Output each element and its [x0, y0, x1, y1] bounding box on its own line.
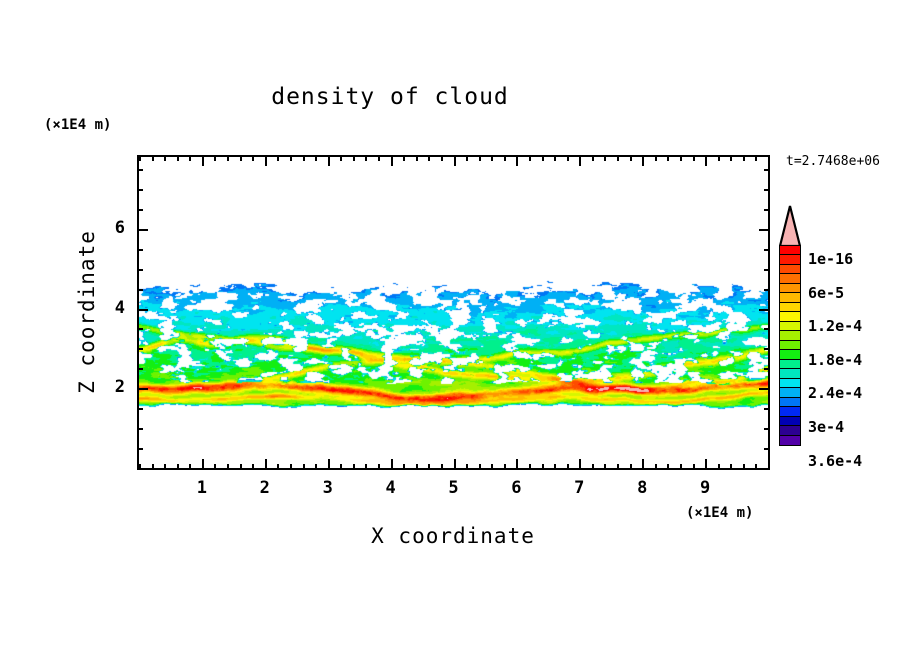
- tick-mark: [630, 155, 632, 161]
- x-tick-label: 5: [434, 478, 474, 498]
- x-tick-label: 4: [371, 478, 411, 498]
- x-tick-label: 8: [622, 478, 662, 498]
- tick-mark: [340, 155, 342, 161]
- plot-area: [137, 155, 770, 470]
- tick-mark: [290, 464, 292, 470]
- tick-mark: [642, 459, 644, 470]
- tick-mark: [759, 309, 770, 311]
- tick-mark: [227, 155, 229, 161]
- tick-mark: [441, 464, 443, 470]
- tick-mark: [680, 464, 682, 470]
- x-tick-label: 9: [685, 478, 725, 498]
- tick-mark: [516, 459, 518, 470]
- tick-mark: [214, 464, 216, 470]
- tick-mark: [164, 155, 166, 161]
- colorbar-tick-label: 6e-5: [808, 284, 844, 302]
- x-axis-unit-label: (×1E4 m): [686, 505, 753, 521]
- tick-mark: [152, 464, 154, 470]
- tick-mark: [137, 209, 143, 211]
- tick-mark: [365, 155, 367, 161]
- tick-mark: [764, 249, 770, 251]
- tick-mark: [277, 155, 279, 161]
- tick-mark: [353, 155, 355, 161]
- tick-mark: [730, 464, 732, 470]
- x-tick-label: 7: [559, 478, 599, 498]
- contour-plot-figure: density of cloud (×1E4 m) (×1E4 m) t=2.7…: [0, 0, 904, 654]
- tick-mark: [416, 155, 418, 161]
- tick-mark: [454, 155, 456, 166]
- tick-mark: [277, 464, 279, 470]
- tick-mark: [137, 428, 143, 430]
- tick-mark: [567, 464, 569, 470]
- tick-mark: [202, 459, 204, 470]
- x-tick-label: 1: [182, 478, 222, 498]
- tick-mark: [441, 155, 443, 161]
- colorbar-tick-label: 2.4e-4: [808, 384, 862, 402]
- tick-mark: [529, 464, 531, 470]
- tick-mark: [743, 155, 745, 161]
- tick-mark: [693, 155, 695, 161]
- tick-mark: [137, 269, 143, 271]
- colorbar-tick-label: 1e-16: [808, 250, 853, 268]
- tick-mark: [764, 189, 770, 191]
- tick-mark: [655, 155, 657, 161]
- tick-mark: [479, 464, 481, 470]
- tick-mark: [491, 155, 493, 161]
- tick-mark: [403, 155, 405, 161]
- tick-mark: [403, 464, 405, 470]
- colorbar-overflow-arrow: [779, 205, 801, 247]
- tick-mark: [755, 155, 757, 161]
- tick-mark: [416, 464, 418, 470]
- tick-mark: [764, 448, 770, 450]
- time-annotation: t=2.7468e+06: [786, 154, 880, 169]
- y-tick-label: 4: [95, 298, 125, 318]
- tick-mark: [529, 155, 531, 161]
- tick-mark: [353, 464, 355, 470]
- tick-mark: [177, 464, 179, 470]
- tick-mark: [630, 464, 632, 470]
- tick-mark: [365, 464, 367, 470]
- tick-mark: [504, 464, 506, 470]
- colorbar-tick-label: 1.8e-4: [808, 351, 862, 369]
- tick-mark: [764, 368, 770, 370]
- tick-mark: [189, 464, 191, 470]
- tick-mark: [764, 408, 770, 410]
- tick-mark: [592, 155, 594, 161]
- colorbar-band: [779, 435, 801, 446]
- tick-mark: [764, 328, 770, 330]
- tick-mark: [705, 155, 707, 166]
- tick-mark: [137, 408, 143, 410]
- tick-mark: [328, 459, 330, 470]
- tick-mark: [177, 155, 179, 161]
- x-tick-label: 6: [496, 478, 536, 498]
- y-axis-title: Z coordinate: [75, 212, 99, 412]
- tick-mark: [479, 155, 481, 161]
- tick-mark: [137, 249, 143, 251]
- x-tick-label: 3: [308, 478, 348, 498]
- y-axis-unit-label: (×1E4 m): [44, 117, 111, 133]
- tick-mark: [693, 464, 695, 470]
- tick-mark: [604, 155, 606, 161]
- tick-mark: [764, 169, 770, 171]
- tick-mark: [454, 459, 456, 470]
- colorbar-tick-label: 3.6e-4: [808, 452, 862, 470]
- tick-mark: [759, 229, 770, 231]
- colorbar: [779, 246, 801, 446]
- tick-mark: [516, 155, 518, 166]
- tick-mark: [227, 464, 229, 470]
- tick-mark: [240, 464, 242, 470]
- tick-mark: [378, 464, 380, 470]
- tick-mark: [764, 209, 770, 211]
- tick-mark: [759, 388, 770, 390]
- tick-mark: [491, 464, 493, 470]
- tick-mark: [718, 464, 720, 470]
- tick-mark: [764, 289, 770, 291]
- tick-mark: [252, 464, 254, 470]
- tick-mark: [504, 155, 506, 161]
- tick-mark: [315, 155, 317, 161]
- tick-mark: [764, 468, 770, 470]
- tick-mark: [265, 459, 267, 470]
- tick-mark: [466, 464, 468, 470]
- tick-mark: [667, 464, 669, 470]
- tick-mark: [730, 155, 732, 161]
- tick-mark: [579, 459, 581, 470]
- tick-mark: [202, 155, 204, 166]
- tick-mark: [542, 155, 544, 161]
- tick-mark: [252, 155, 254, 161]
- tick-mark: [655, 464, 657, 470]
- tick-mark: [137, 388, 148, 390]
- tick-mark: [642, 155, 644, 166]
- tick-mark: [139, 155, 141, 161]
- tick-mark: [755, 464, 757, 470]
- tick-mark: [303, 464, 305, 470]
- tick-mark: [137, 348, 143, 350]
- tick-mark: [303, 155, 305, 161]
- tick-mark: [743, 464, 745, 470]
- tick-mark: [265, 155, 267, 166]
- tick-mark: [152, 155, 154, 161]
- tick-mark: [428, 464, 430, 470]
- y-tick-label: 2: [95, 377, 125, 397]
- tick-mark: [764, 348, 770, 350]
- tick-mark: [579, 155, 581, 166]
- tick-mark: [567, 155, 569, 161]
- tick-mark: [617, 464, 619, 470]
- tick-mark: [542, 464, 544, 470]
- tick-mark: [137, 189, 143, 191]
- tick-mark: [554, 155, 556, 161]
- tick-mark: [137, 448, 143, 450]
- tick-mark: [378, 155, 380, 161]
- tick-mark: [391, 459, 393, 470]
- tick-mark: [137, 368, 143, 370]
- y-tick-label: 6: [95, 218, 125, 238]
- colorbar-tick-label: 3e-4: [808, 418, 844, 436]
- tick-mark: [768, 155, 770, 161]
- tick-mark: [164, 464, 166, 470]
- tick-mark: [137, 169, 143, 171]
- tick-mark: [315, 464, 317, 470]
- tick-mark: [214, 155, 216, 161]
- tick-mark: [137, 328, 143, 330]
- tick-mark: [764, 269, 770, 271]
- tick-mark: [764, 428, 770, 430]
- tick-mark: [592, 464, 594, 470]
- tick-mark: [667, 155, 669, 161]
- tick-mark: [466, 155, 468, 161]
- tick-mark: [554, 464, 556, 470]
- tick-mark: [604, 464, 606, 470]
- tick-mark: [240, 155, 242, 161]
- tick-mark: [189, 155, 191, 161]
- tick-mark: [328, 155, 330, 166]
- tick-mark: [340, 464, 342, 470]
- tick-mark: [617, 155, 619, 161]
- x-axis-title: X coordinate: [253, 524, 653, 548]
- tick-mark: [680, 155, 682, 161]
- tick-mark: [137, 468, 143, 470]
- tick-mark: [718, 155, 720, 161]
- tick-mark: [705, 459, 707, 470]
- colorbar-tick-label: 1.2e-4: [808, 317, 862, 335]
- page-title: density of cloud: [0, 84, 780, 110]
- tick-mark: [428, 155, 430, 161]
- tick-mark: [137, 229, 148, 231]
- tick-mark: [391, 155, 393, 166]
- x-tick-label: 2: [245, 478, 285, 498]
- tick-mark: [137, 309, 148, 311]
- contour-field: [139, 157, 768, 468]
- tick-mark: [290, 155, 292, 161]
- tick-mark: [137, 289, 143, 291]
